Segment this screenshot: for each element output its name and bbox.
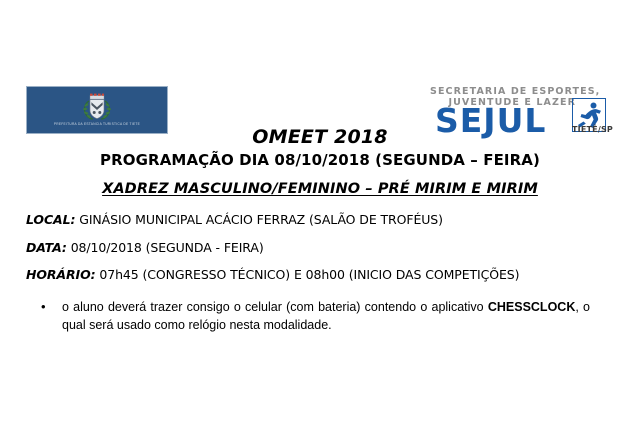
info-label-data: DATA: — [26, 240, 67, 255]
info-label-horario: HORÁRIO: — [26, 267, 96, 282]
notes-list: • o aluno deverá trazer consigo o celula… — [38, 298, 590, 334]
list-item: • o aluno deverá trazer consigo o celula… — [38, 298, 590, 334]
info-label-local: LOCAL: — [26, 212, 75, 227]
info-line-horario: HORÁRIO: 07h45 (CONGRESSO TÉCNICO) E 08h… — [26, 267, 519, 282]
info-value-local: GINÁSIO MUNICIPAL ACÁCIO FERRAZ (SALÃO D… — [75, 212, 443, 227]
note-text: o aluno deverá trazer consigo o celular … — [62, 298, 590, 334]
info-line-local: LOCAL: GINÁSIO MUNICIPAL ACÁCIO FERRAZ (… — [26, 212, 443, 227]
schedule-subtitle: PROGRAMAÇÃO DIA 08/10/2018 (SEGUNDA – FE… — [0, 151, 640, 169]
event-title: OMEET 2018 — [0, 126, 640, 148]
note-text-before: o aluno deverá trazer consigo o celular … — [62, 300, 488, 314]
document-page: PREFEITURA DA ESTANCIA TURISTICA DE TIET… — [0, 0, 640, 440]
info-value-data: 08/10/2018 (SEGUNDA - FEIRA) — [67, 240, 264, 255]
sejul-tagline-line1: SECRETARIA DE ESPORTES, — [430, 86, 576, 97]
modality-title: XADREZ MASCULINO/FEMININO – PRÉ MIRIM E … — [0, 181, 640, 197]
document-header: PREFEITURA DA ESTANCIA TURISTICA DE TIET… — [0, 0, 640, 140]
bullet-marker-icon: • — [38, 298, 62, 316]
info-value-horario: 07h45 (CONGRESSO TÉCNICO) E 08h00 (INICI… — [96, 267, 520, 282]
info-line-data: DATA: 08/10/2018 (SEGUNDA - FEIRA) — [26, 240, 264, 255]
note-app-name: CHESSCLOCK — [488, 300, 576, 314]
coat-of-arms-icon — [80, 93, 114, 123]
